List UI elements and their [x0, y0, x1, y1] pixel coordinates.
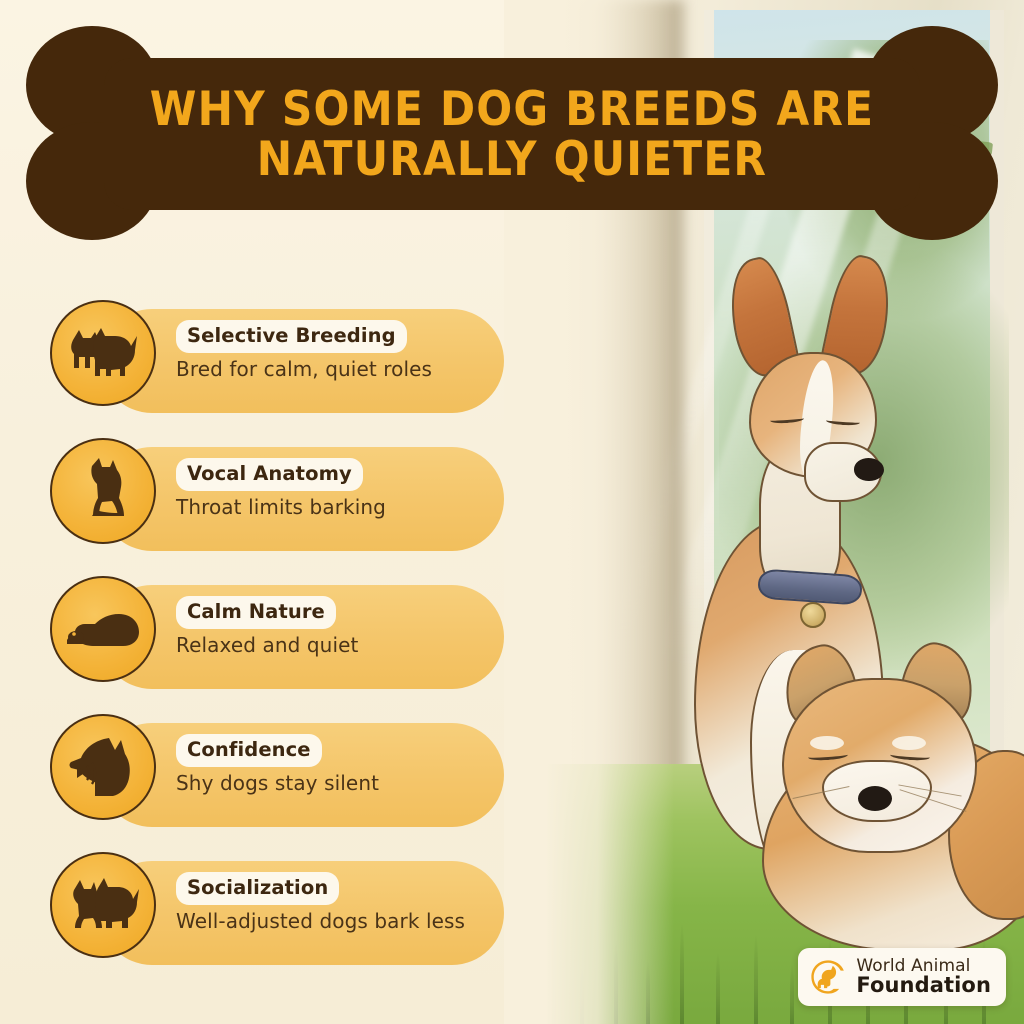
list-item-desc: Well-adjusted dogs bark less — [176, 910, 476, 934]
shiba-brow-left — [810, 736, 844, 750]
list-item-title: Selective Breeding — [176, 320, 407, 353]
page-title: Why Some Dog Breeds Are Naturally Quiete… — [104, 60, 920, 210]
basenji-nose — [854, 458, 884, 481]
two-dogs-walking-icon — [50, 300, 156, 406]
list-item[interactable]: Confidence Shy dogs stay silent — [0, 710, 560, 848]
list-item[interactable]: Selective Breeding Bred for calm, quiet … — [0, 296, 560, 434]
list-item[interactable]: Vocal Anatomy Throat limits barking — [0, 434, 560, 572]
header-bone: Why Some Dog Breeds Are Naturally Quiete… — [12, 26, 1012, 241]
list-item-title: Vocal Anatomy — [176, 458, 363, 491]
list-item[interactable]: Socialization Well-adjusted dogs bark le… — [0, 848, 560, 986]
list-item-text: Calm Nature Relaxed and quiet — [176, 596, 496, 657]
infographic-canvas: Why Some Dog Breeds Are Naturally Quiete… — [0, 0, 1024, 1024]
list-item-title: Socialization — [176, 872, 339, 905]
shiba-brow-right — [892, 736, 926, 750]
grass-blade — [716, 952, 720, 1024]
list-item[interactable]: Calm Nature Relaxed and quiet — [0, 572, 560, 710]
list-item-desc: Relaxed and quiet — [176, 634, 476, 658]
dog-head-speaker-icon — [50, 714, 156, 820]
list-item-desc: Throat limits barking — [176, 496, 476, 520]
list-item-title: Confidence — [176, 734, 322, 767]
dog-shiba-inu — [762, 640, 1024, 980]
feature-list: Selective Breeding Bred for calm, quiet … — [0, 296, 560, 986]
animal-circle-logo-icon — [809, 958, 847, 996]
shiba-nose — [858, 786, 892, 811]
list-item-title: Calm Nature — [176, 596, 336, 629]
logo-text: World Animal Foundation — [856, 958, 991, 996]
list-item-text: Selective Breeding Bred for calm, quiet … — [176, 320, 496, 381]
logo-badge[interactable]: World Animal Foundation — [798, 948, 1006, 1006]
logo-line2: Foundation — [856, 975, 991, 996]
page-title-line1: Why Some Dog Breeds Are — [150, 85, 875, 135]
grass-blade — [680, 922, 684, 1024]
list-item-text: Confidence Shy dogs stay silent — [176, 734, 496, 795]
two-dogs-sitting-icon — [50, 852, 156, 958]
list-item-text: Vocal Anatomy Throat limits barking — [176, 458, 496, 519]
list-item-desc: Shy dogs stay silent — [176, 772, 476, 796]
sleeping-dog-icon — [50, 576, 156, 682]
grass-blade — [754, 934, 758, 1024]
page-title-line2: Naturally Quieter — [257, 135, 767, 185]
list-item-desc: Bred for calm, quiet roles — [176, 358, 476, 382]
list-item-text: Socialization Well-adjusted dogs bark le… — [176, 872, 496, 933]
basenji-collar-tag — [800, 602, 826, 628]
sitting-dog-icon — [50, 438, 156, 544]
